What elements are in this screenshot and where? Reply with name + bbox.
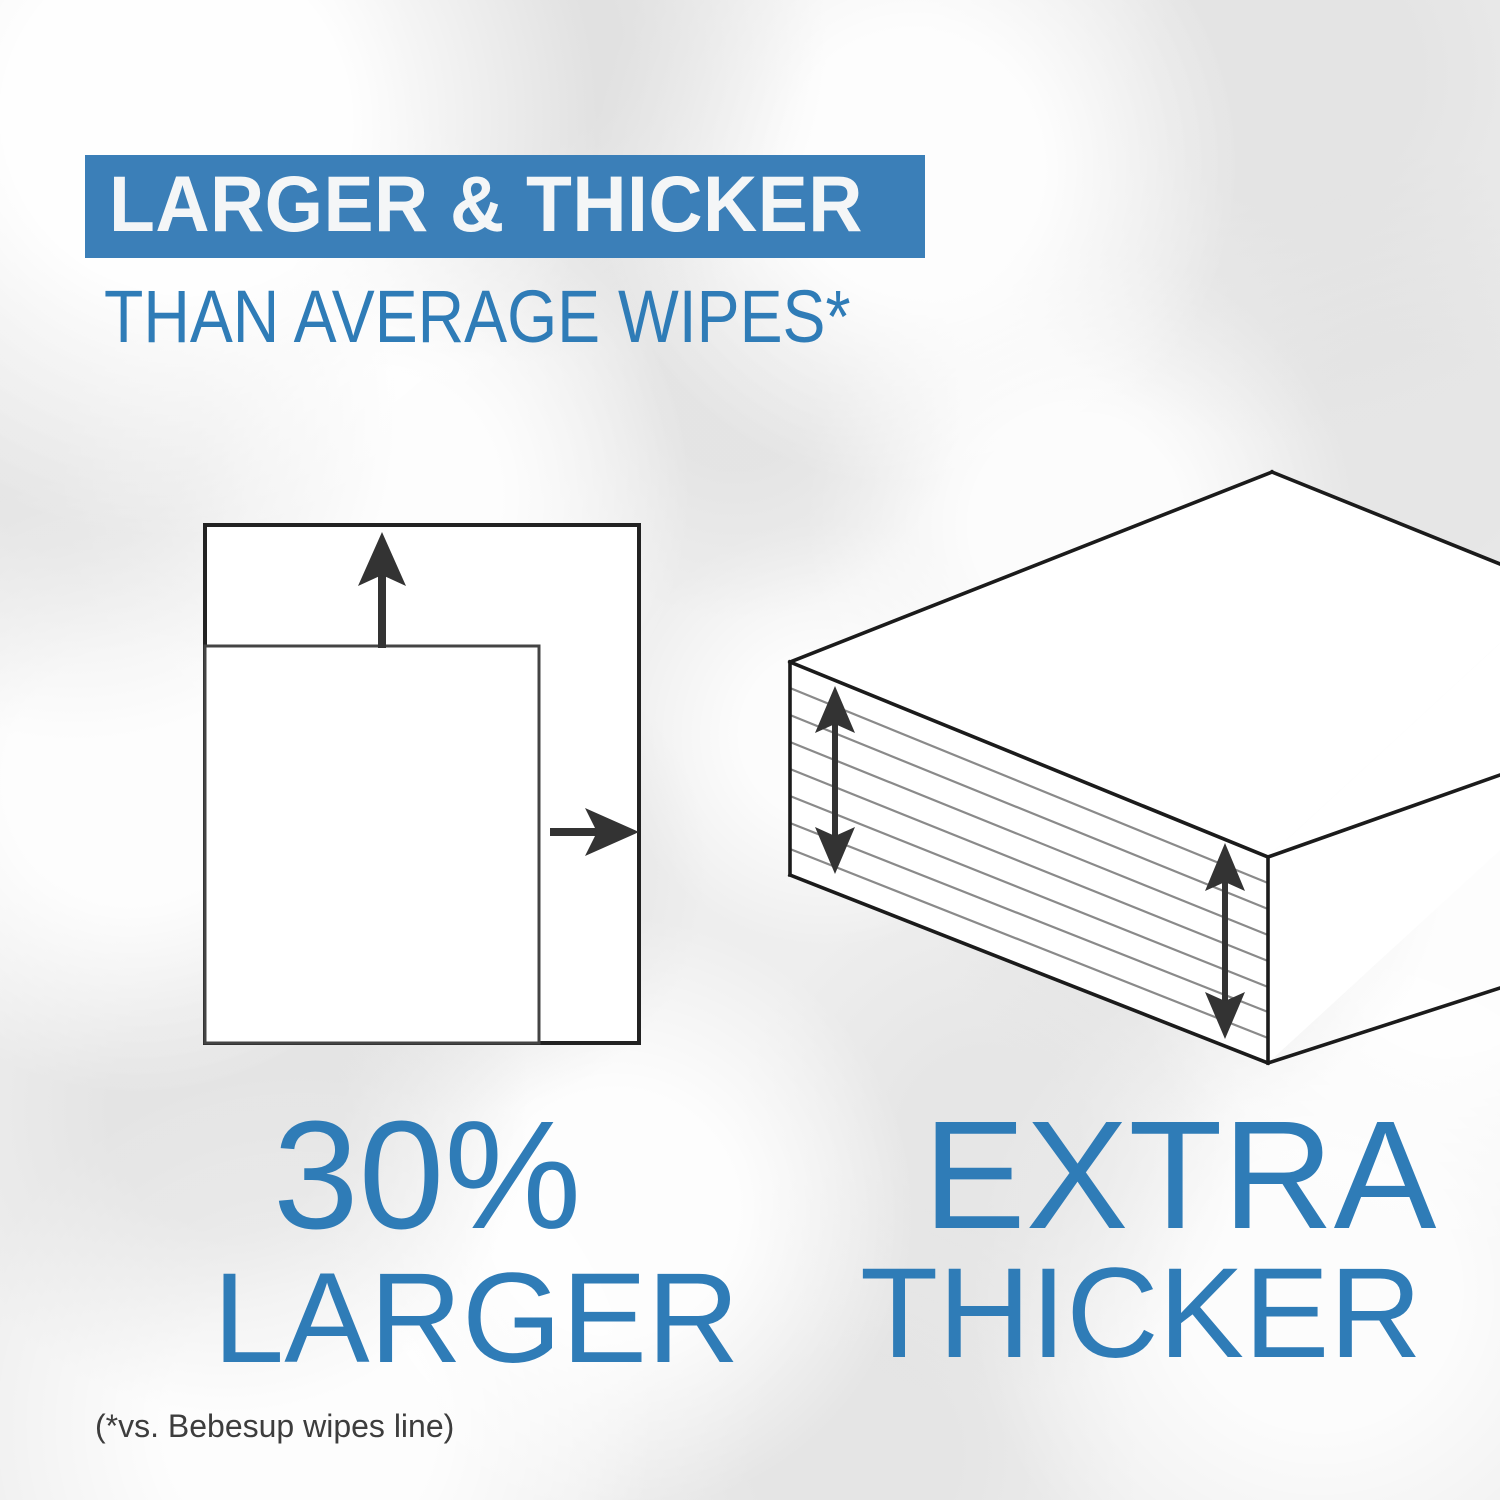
callout-thickness-word: THICKER (860, 1250, 1422, 1378)
promo-infographic: LARGER & THICKER THAN AVERAGE WIPES* (0, 0, 1500, 1500)
footnote-text: (*vs. Bebesup wipes line) (95, 1408, 454, 1445)
callout-size-word: LARGER (213, 1255, 739, 1383)
callout-size-number: 30% (273, 1098, 581, 1252)
callout-thickness-number: EXTRA (923, 1098, 1436, 1252)
